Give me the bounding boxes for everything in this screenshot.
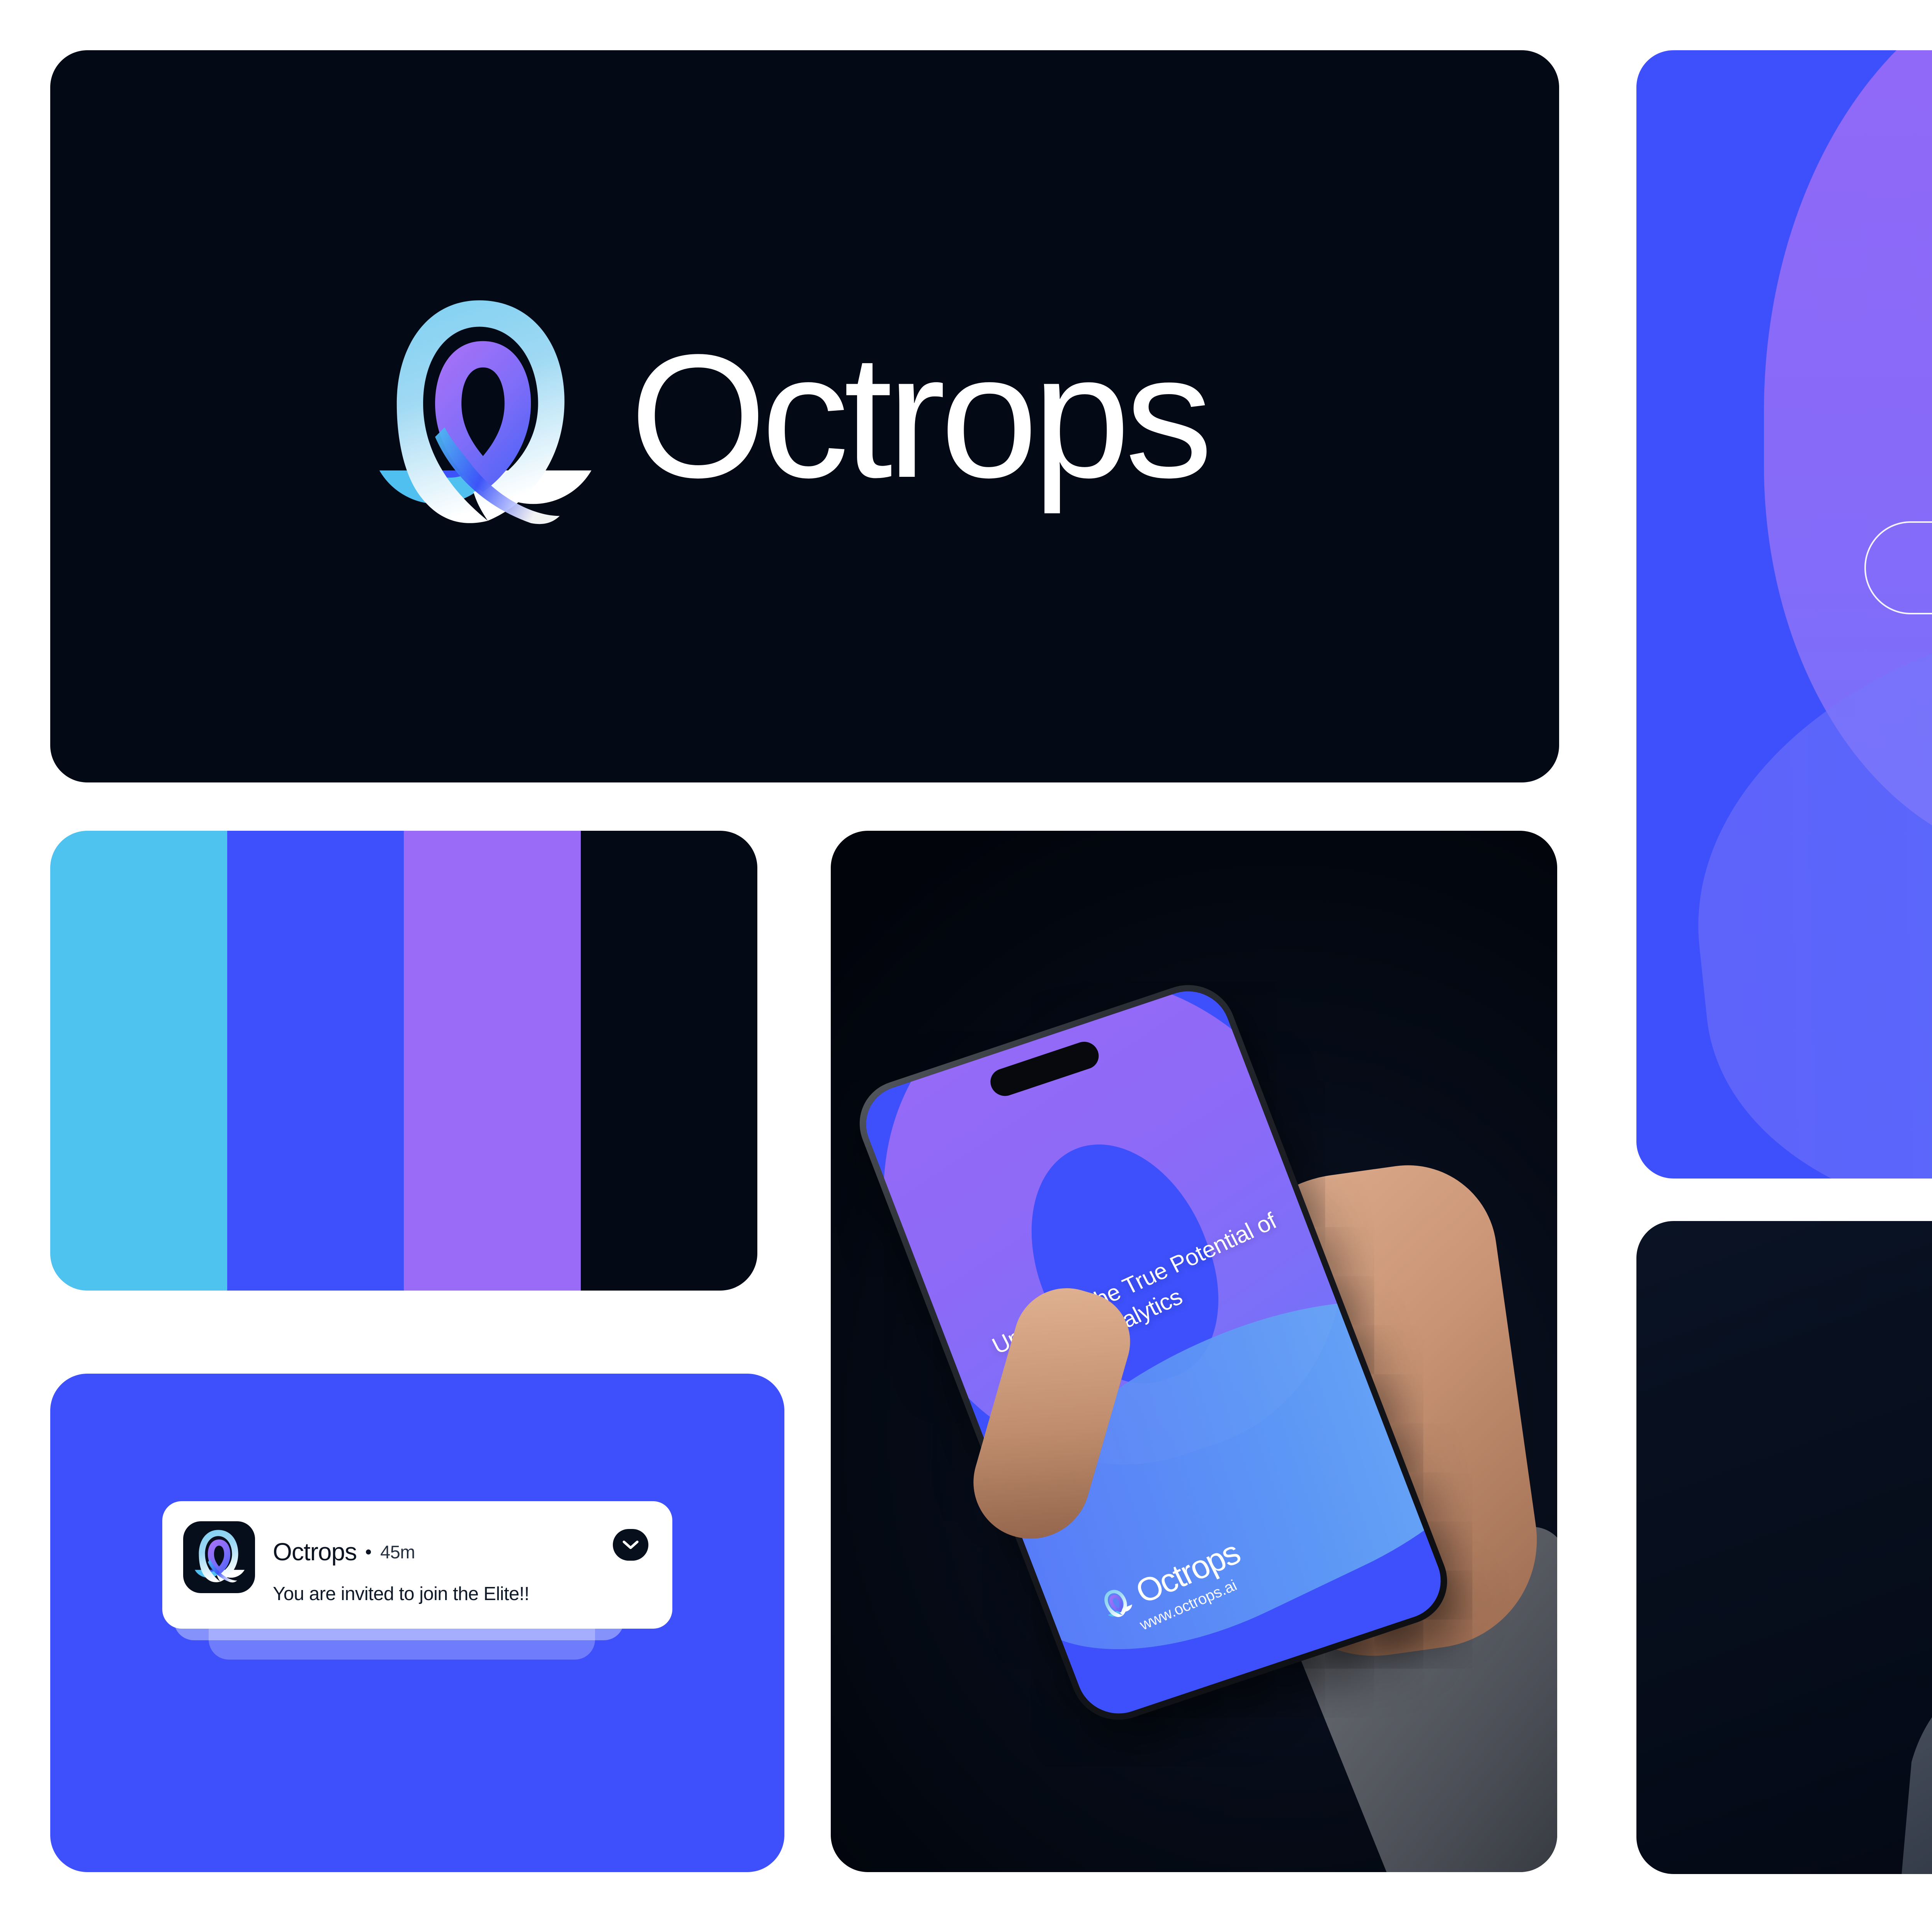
logo-panel: Octrops [50,50,1559,782]
octrops-app-icon [183,1521,255,1593]
notification-separator-dot [366,1549,371,1554]
color-swatch-near-black [581,831,758,1291]
tagline-panel: Innovate Analyze Dominate [1636,50,1932,1179]
tagline-word-list: Innovate Analyze Dominate [1636,437,1932,699]
color-swatch-sky-blue [50,831,227,1291]
notification-timestamp: 45m [380,1541,415,1563]
business-portrait-photo [1850,1221,1932,1874]
octrops-loop-logo-icon [190,1528,248,1586]
color-swatch-violet [404,831,581,1291]
color-palette-panel [50,831,757,1291]
notification-panel: Octrops 45m You are invited to join the … [50,1374,784,1872]
notification-title-row: Octrops 45m [273,1537,651,1566]
notification-app-name: Octrops [273,1537,357,1566]
logo-lockup: Octrops [363,293,1207,540]
octrops-loop-logo-icon [363,293,603,540]
chevron-down-glyph [622,1539,639,1551]
notification-message: You are invited to join the Elite!! [273,1583,651,1605]
tagline-highlight-pill[interactable]: Analyze [1864,521,1932,614]
phone-in-hand-scene: Unlocking the True Potential of AI-Drive… [831,831,1557,1872]
notification-card[interactable]: Octrops 45m You are invited to join the … [162,1501,672,1629]
logo-wordmark: Octrops [630,333,1207,500]
color-swatch-royal-blue [227,831,404,1291]
notification-body: Octrops 45m You are invited to join the … [273,1521,651,1605]
phone-mockup-panel: Unlocking the True Potential of AI-Drive… [831,831,1557,1872]
brand-board: Octrops [0,0,1932,1932]
chevron-down-icon[interactable] [613,1529,648,1561]
portrait-panel [1636,1221,1932,1874]
notification-stack: Octrops 45m You are invited to join the … [162,1501,672,1629]
